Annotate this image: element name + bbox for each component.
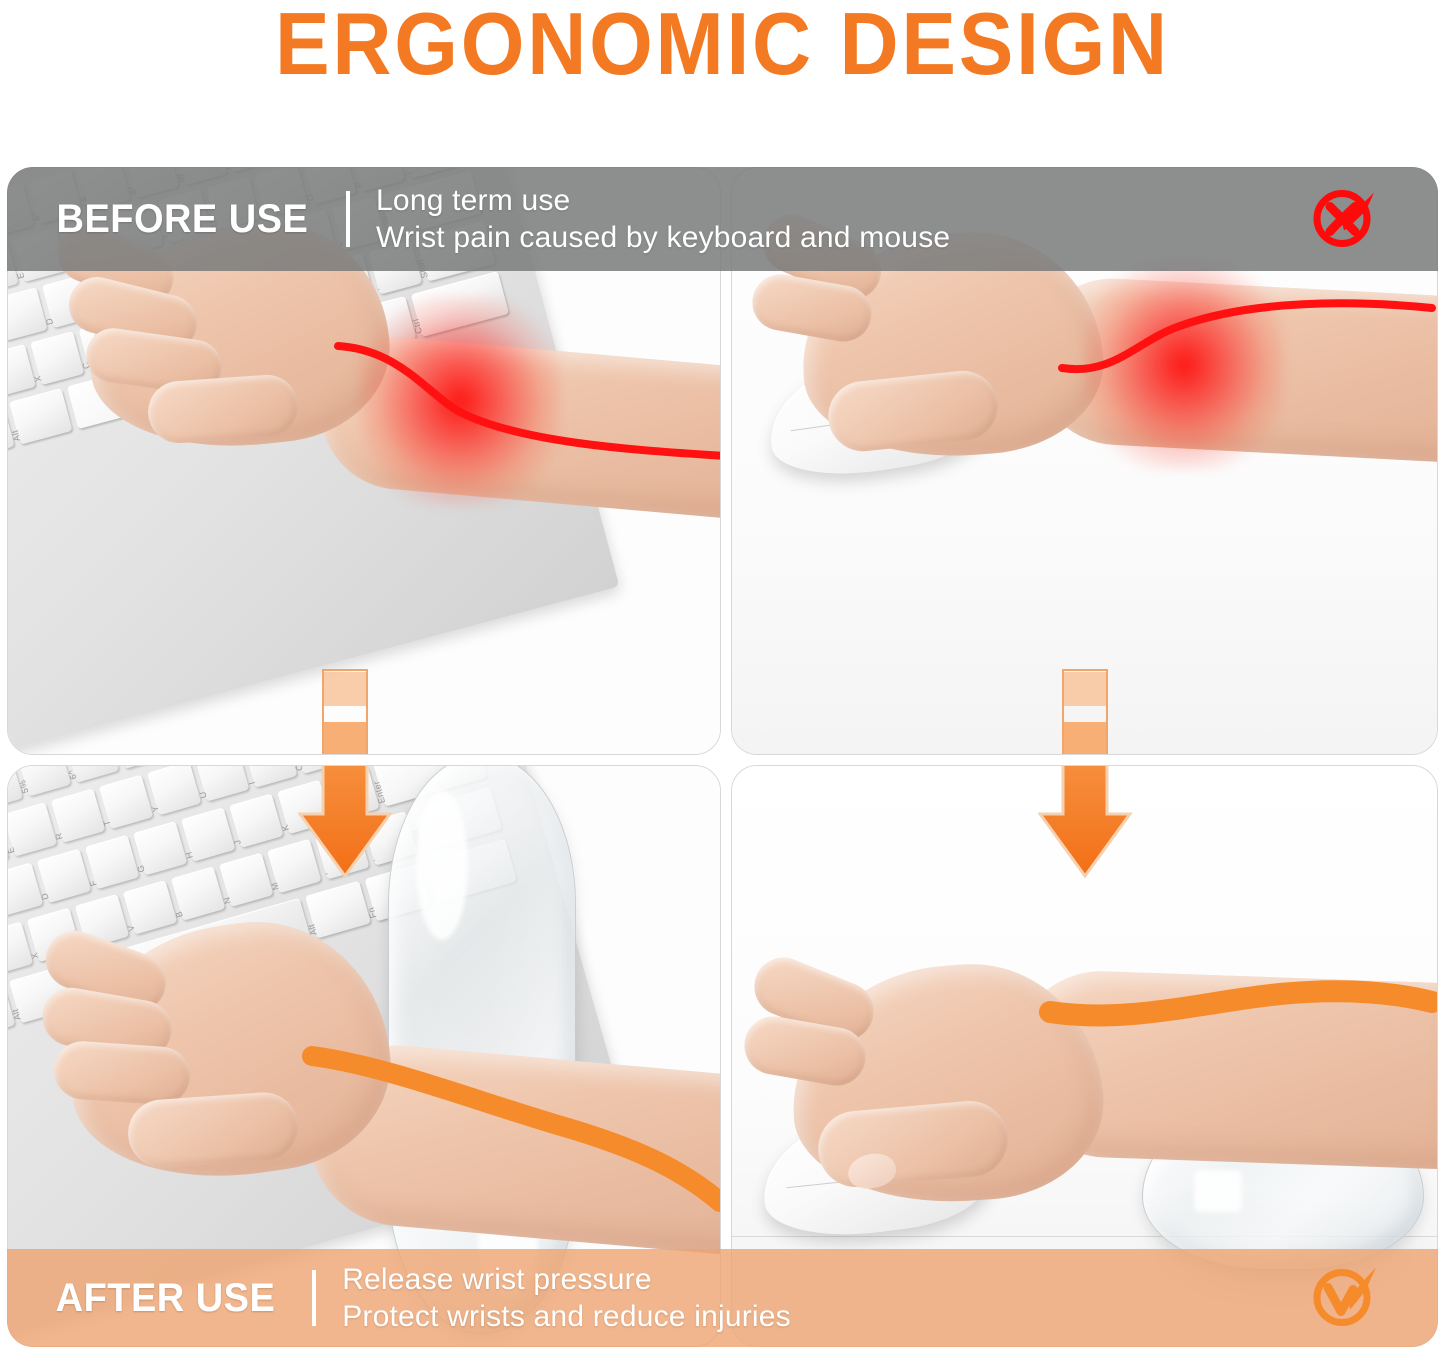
before-use-description: Long term use Wrist pain caused by keybo…	[376, 182, 950, 256]
after-use-line1: Release wrist pressure	[342, 1261, 791, 1298]
page-title: ERGONOMIC DESIGN	[51, 0, 1395, 94]
transition-arrow-right-head	[1038, 766, 1138, 914]
after-use-label: AFTER USE	[14, 1276, 275, 1321]
transition-arrow-right	[1038, 668, 1138, 754]
before-use-line2: Wrist pain caused by keyboard and mouse	[376, 219, 950, 256]
before-use-banner: BEFORE USE Long term use Wrist pain caus…	[7, 167, 1438, 271]
after-use-line2: Protect wrists and reduce injuries	[342, 1298, 791, 1335]
comparison-grid: 2@ 3# 4$ 5% 6^ 7& 8* 9( 0) -_ =+ Back Ta…	[7, 167, 1438, 1347]
transition-arrow-left	[298, 668, 398, 754]
circled-x-icon	[1308, 181, 1380, 258]
before-use-label: BEFORE USE	[15, 197, 309, 242]
banner-divider	[346, 191, 350, 247]
banner-divider	[312, 1270, 316, 1326]
transition-arrow-left-head	[298, 766, 398, 914]
after-use-description: Release wrist pressure Protect wrists an…	[342, 1261, 791, 1335]
infographic-root: ERGONOMIC DESIGN 2@ 3# 4$ 5% 6^ 7& 8* 9(	[0, 0, 1445, 1351]
circled-check-icon	[1308, 1260, 1380, 1337]
before-use-line1: Long term use	[376, 182, 950, 219]
after-use-banner: AFTER USE Release wrist pressure Protect…	[7, 1249, 1438, 1347]
